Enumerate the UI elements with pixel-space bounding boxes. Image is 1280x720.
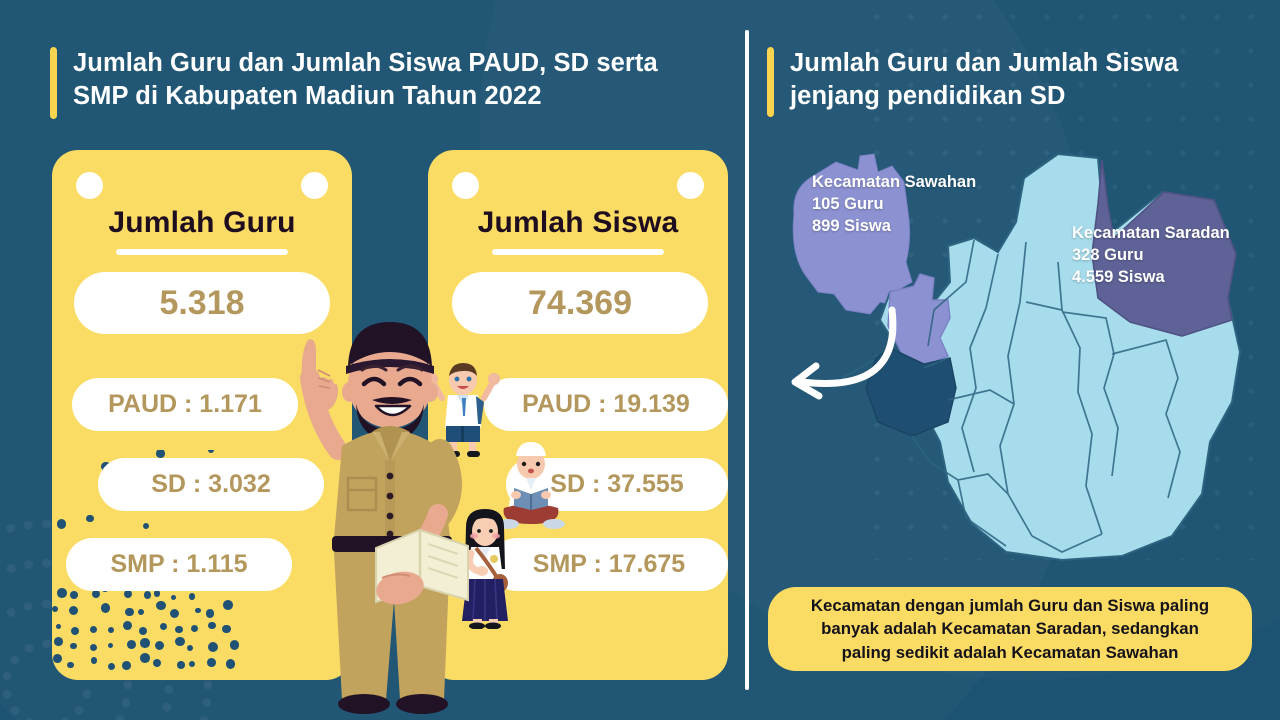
- summary-note-text: Kecamatan dengan jumlah Guru dan Siswa p…: [811, 594, 1209, 664]
- punch-hole-icon: [301, 172, 328, 199]
- stat-row-siswa-paud: PAUD : 19.139: [484, 378, 728, 431]
- left-title-text: Jumlah Guru dan Jumlah Siswa PAUD, SD se…: [73, 47, 658, 113]
- left-panel-title: Jumlah Guru dan Jumlah Siswa PAUD, SD se…: [50, 47, 658, 119]
- title-accent-bar: [50, 47, 57, 119]
- card-heading-guru: Jumlah Guru: [52, 206, 352, 240]
- title-accent-bar: [767, 47, 774, 117]
- right-panel-title: Jumlah Guru dan Jumlah Siswa jenjang pen…: [767, 47, 1178, 117]
- stat-row-siswa-smp: SMP : 17.675: [490, 538, 728, 591]
- summary-note-box: Kecamatan dengan jumlah Guru dan Siswa p…: [768, 587, 1252, 671]
- punch-hole-icon: [452, 172, 479, 199]
- stat-total-siswa: 74.369: [452, 272, 708, 334]
- map-label-saradan: Kecamatan Saradan 328 Guru 4.559 Siswa: [1072, 223, 1230, 289]
- card-underline: [116, 249, 288, 255]
- punch-hole-icon: [677, 172, 704, 199]
- map-label-sawahan: Kecamatan Sawahan 105 Guru 899 Siswa: [812, 172, 976, 238]
- punch-hole-icon: [76, 172, 103, 199]
- right-title-text: Jumlah Guru dan Jumlah Siswa jenjang pen…: [790, 47, 1178, 113]
- stat-row-guru-paud: PAUD : 1.171: [72, 378, 298, 431]
- card-underline: [492, 249, 664, 255]
- card-heading-siswa: Jumlah Siswa: [428, 206, 728, 240]
- teacher-illustration: [272, 300, 472, 720]
- panel-divider: [745, 30, 749, 690]
- stat-row-guru-smp: SMP : 1.115: [66, 538, 292, 591]
